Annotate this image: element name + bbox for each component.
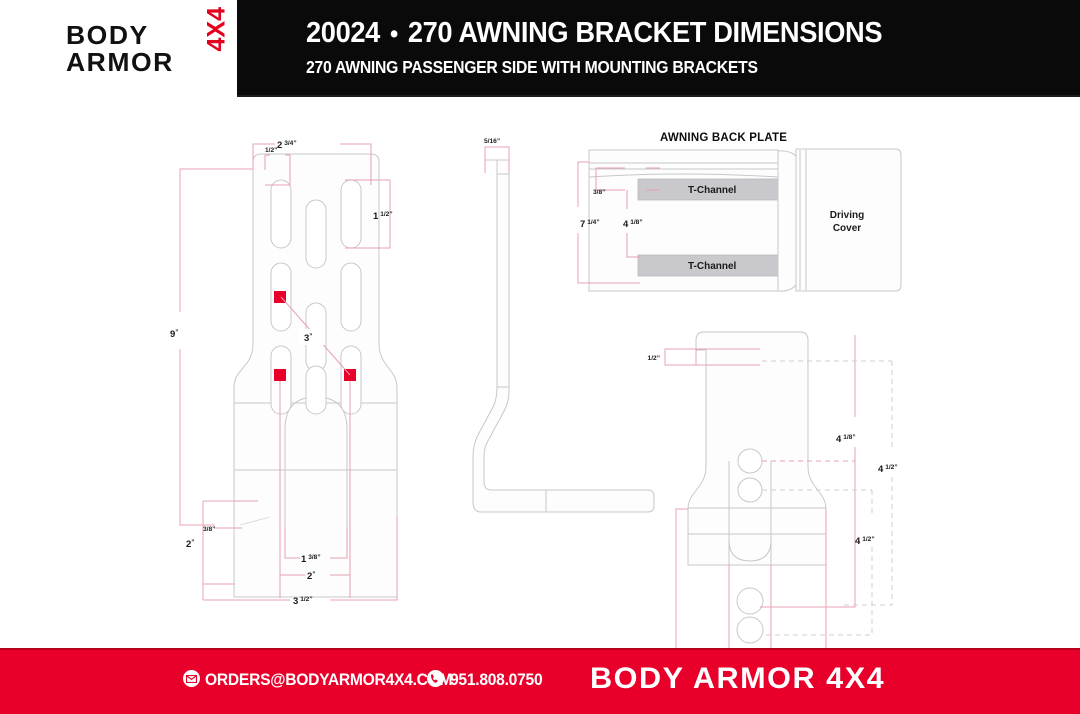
dim-height-b-line <box>840 361 892 605</box>
slot <box>306 200 326 268</box>
dim-lower-height: 2” <box>186 539 195 550</box>
driving-cover-label-line1: Driving <box>830 210 864 221</box>
dim-slot-offset: 1/2” <box>265 147 277 154</box>
footer-email[interactable]: ORDERS@BODYARMOR4X4.COM <box>205 670 452 690</box>
bracket-hole <box>738 449 762 473</box>
mounting-bracket-outline <box>688 332 826 565</box>
page-header: BODY ARMOR 4X4 20024 • 270 AWNING BRACKE… <box>0 0 1080 97</box>
dim-thickness: 3/8” <box>203 526 215 533</box>
awning-back-plate-label: AWNING BACK PLATE <box>660 132 787 144</box>
dim-width-top: 2 3/4” <box>277 140 297 151</box>
slot <box>271 180 291 248</box>
footer-phone[interactable]: 951.808.0750 <box>450 670 542 690</box>
reference-marker <box>274 369 286 381</box>
page-subtitle: 270 AWNING PASSENGER SIDE WITH MOUNTING … <box>306 57 758 78</box>
mail-icon <box>183 670 200 687</box>
dim-top-hole-offset-line <box>665 349 696 365</box>
body-armor-logo: BODY ARMOR 4X4 <box>66 22 226 78</box>
dim-overall-height: 9” <box>170 329 179 340</box>
dim-stock-thickness: 5/16” <box>484 138 500 145</box>
dim-top-hole-offset: 1/2” <box>648 355 660 362</box>
driving-cover-neck <box>778 151 796 291</box>
dim-channel-offset: 3/8” <box>593 189 605 196</box>
front-plate-view: 3” 2 3/4” 1/2” 1 1/2” 9” 2” 3/8” 1 3/8” … <box>170 140 397 607</box>
slot <box>341 180 361 248</box>
technical-drawing: 3” 2 3/4” 1/2” 1 1/2” 9” 2” 3/8” 1 3/8” … <box>0 97 1080 648</box>
dim-overall-width: 3 1/2” <box>293 596 313 607</box>
dim-height-c: 4 1/2” <box>855 536 875 547</box>
page-title: 20024 • 270 AWNING BRACKET DIMENSIONS <box>306 17 882 50</box>
footer-brand: BODY ARMOR 4X4 <box>590 662 885 696</box>
title-text: 270 AWNING BRACKET DIMENSIONS <box>408 17 882 49</box>
logo-4x4-badge: 4X4 <box>202 24 232 76</box>
t-channel-top-label: T-Channel <box>688 185 737 196</box>
slot <box>341 263 361 331</box>
footer-divider <box>0 648 1080 650</box>
mounting-bracket-view: 1/2” 4 1/8” 4 1/2” 4 1/2” 1 1/8” 3 1/2” <box>648 332 898 648</box>
dim-height-b: 4 1/2” <box>878 464 898 475</box>
bracket-hole-3rd <box>737 588 763 614</box>
awning-back-plate-view: AWNING BACK PLATE T-Channel T-Channel Dr… <box>578 132 901 291</box>
t-channel-bottom-label: T-Channel <box>688 261 737 272</box>
logo-4x4-text: 4X4 <box>205 22 230 52</box>
bracket-hole <box>738 478 762 502</box>
part-number: 20024 <box>306 17 380 49</box>
dim-height-a: 4 1/8” <box>836 434 856 445</box>
drawing-canvas: 3” 2 3/4” 1/2” 1 1/2” 9” 2” 3/8” 1 3/8” … <box>0 97 1080 648</box>
phone-icon <box>427 670 444 687</box>
slot <box>306 366 326 414</box>
title-separator: • <box>387 20 400 48</box>
bracket-hole-4th <box>737 617 763 643</box>
driving-cover-label-line2: Cover <box>833 223 861 234</box>
